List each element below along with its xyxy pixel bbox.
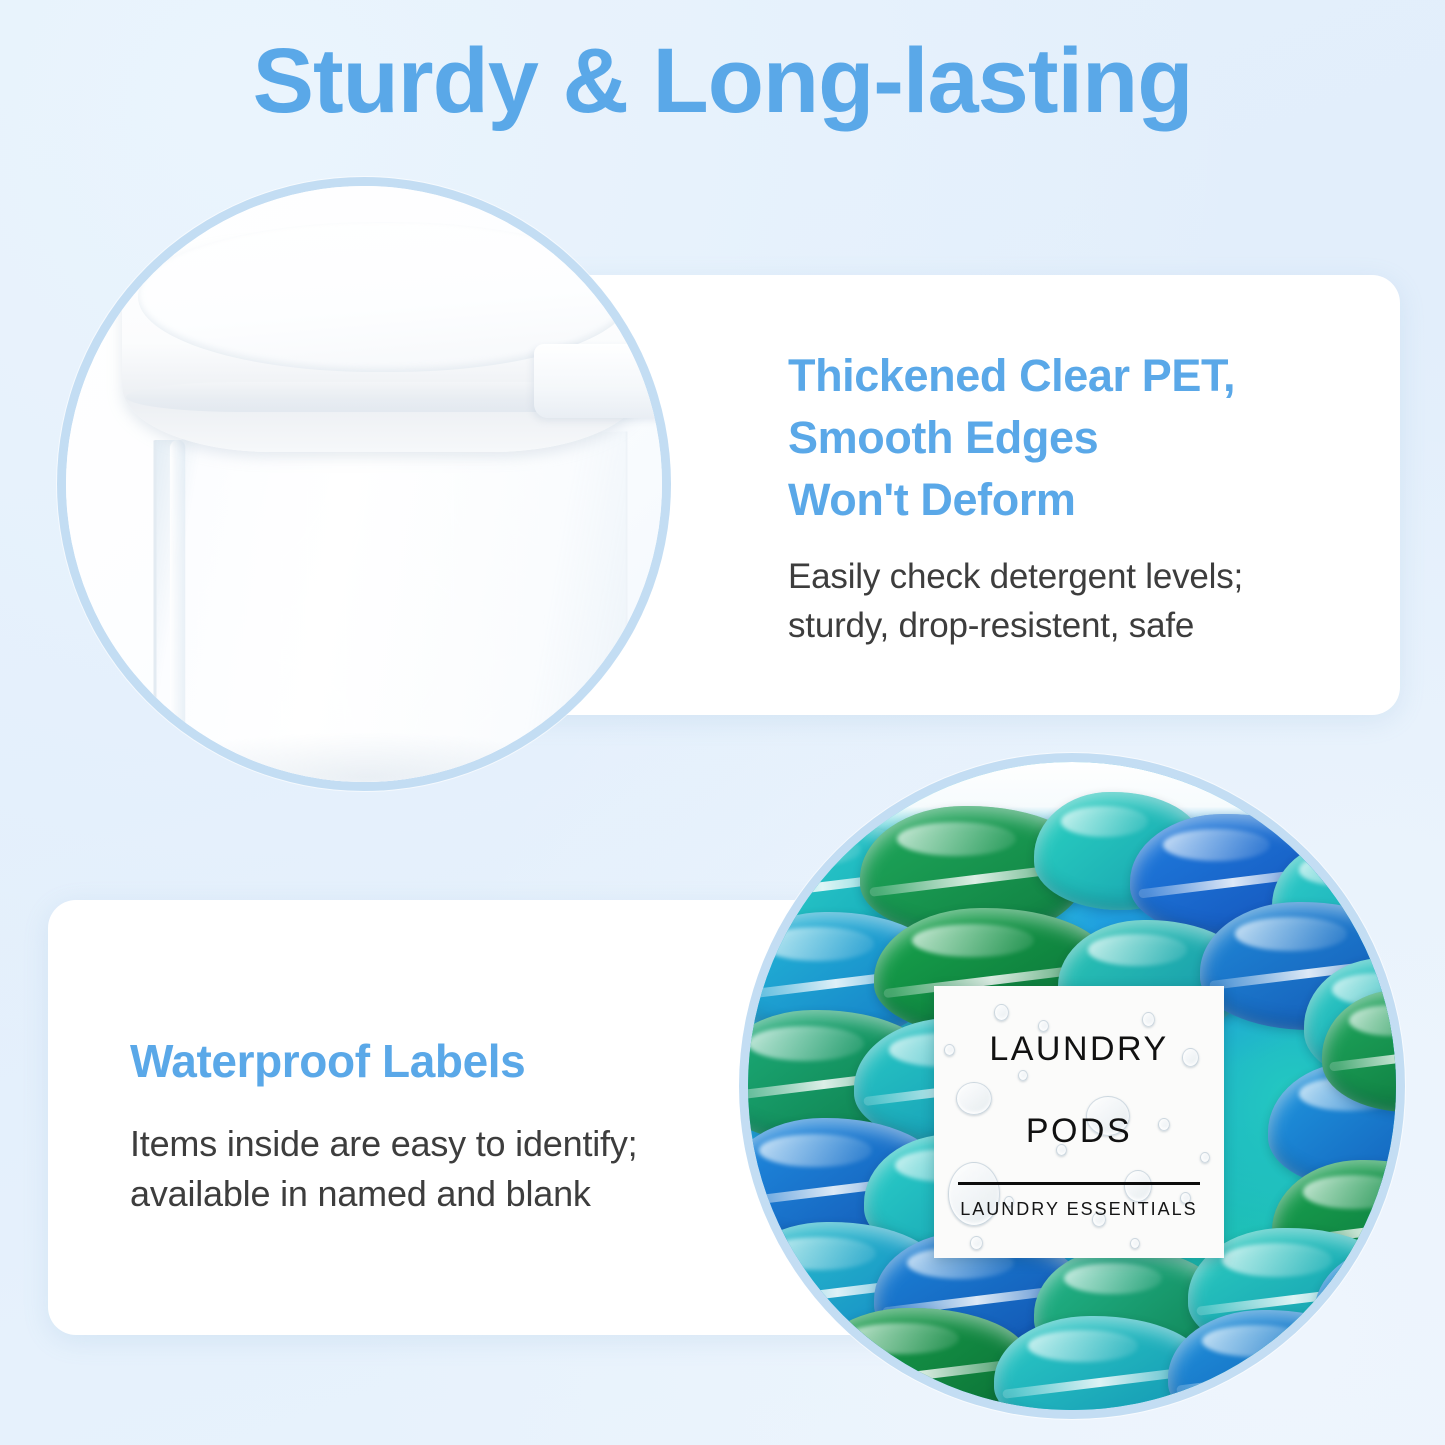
label-line-1: LAUNDRY [934, 1030, 1224, 1069]
feature-body: Easily check detergent levels; sturdy, d… [788, 553, 1318, 650]
feature-heading: Thickened Clear PET, Smooth Edges Won't … [788, 345, 1318, 531]
waterproof-label-sticker: LAUNDRY PODS LAUNDRY ESSENTIALS [934, 986, 1224, 1258]
feature-body-line: Items inside are easy to identify; [130, 1119, 750, 1169]
jar-clear-body [154, 432, 628, 782]
feature-body: Items inside are easy to identify; avail… [130, 1119, 750, 1218]
feature-heading-line: Thickened Clear PET, [788, 345, 1318, 407]
label-subtitle: LAUNDRY ESSENTIALS [934, 1199, 1224, 1220]
feature-body-line: available in named and blank [130, 1169, 750, 1219]
feature-heading: Waterproof Labels [130, 1030, 750, 1093]
container-lid-photo [66, 186, 662, 782]
feature-heading-line: Waterproof Labels [130, 1030, 750, 1093]
label-divider [958, 1182, 1200, 1185]
jar-lid-tab [534, 344, 662, 418]
feature-heading-line: Won't Deform [788, 469, 1318, 531]
infographic-page: Sturdy & Long-lasting Thickened Clear PE… [0, 0, 1445, 1445]
feature-text-waterproof-labels: Waterproof Labels Items inside are easy … [130, 1030, 750, 1219]
jar-scene [66, 186, 662, 782]
feature-text-clear-pet: Thickened Clear PET, Smooth Edges Won't … [788, 345, 1318, 650]
feature-body-line: sturdy, drop-resistent, safe [788, 602, 1318, 650]
page-title: Sturdy & Long-lasting [0, 30, 1445, 133]
laundry-pods-photo: LAUNDRY PODS LAUNDRY ESSENTIALS [748, 762, 1396, 1410]
feature-body-line: Easily check detergent levels; [788, 553, 1318, 601]
jar-shadow [106, 732, 626, 782]
feature-heading-line: Smooth Edges [788, 407, 1318, 469]
label-line-2: PODS [934, 1112, 1224, 1151]
pods-scene: LAUNDRY PODS LAUNDRY ESSENTIALS [748, 762, 1396, 1410]
